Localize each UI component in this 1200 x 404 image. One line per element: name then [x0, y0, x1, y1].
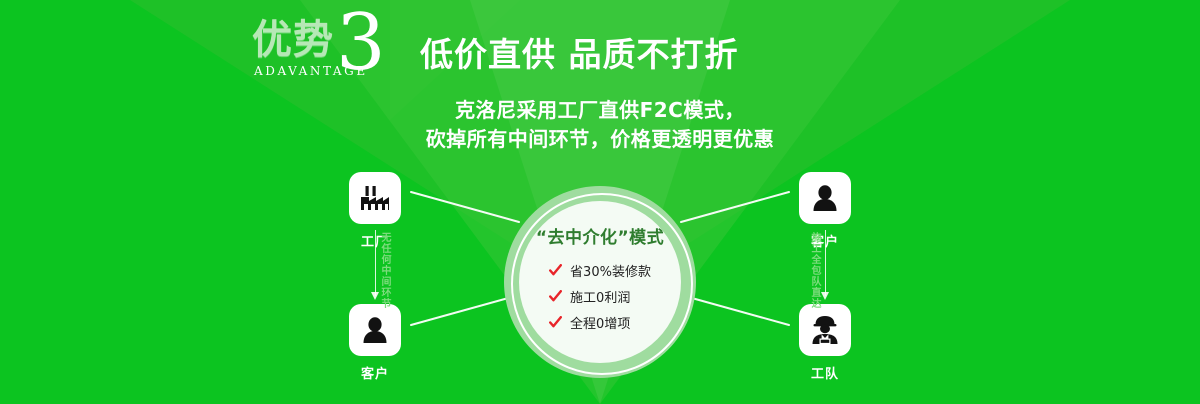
- subheadline: 克洛尼采用工厂直供F2C模式， 砍掉所有中间环节，价格更透明更优惠: [0, 96, 1200, 154]
- hub-benefit-list: 省30%装修款 施工0利润 全程0增项: [549, 261, 651, 339]
- hub-inner-circle: “去中介化”模式 省30%装修款 施工0利润 全程0增项: [519, 201, 681, 363]
- person-icon: [361, 316, 389, 344]
- node-team-box: [799, 304, 851, 356]
- check-icon: [549, 290, 562, 303]
- advantage-number: 3: [336, 4, 386, 82]
- list-item: 省30%装修款: [549, 261, 651, 280]
- check-icon: [549, 264, 562, 277]
- hub-benefit-label: 全程0增项: [570, 313, 630, 332]
- person-icon: [811, 184, 839, 212]
- advantage-badge: 优势 ADAVANTAGE 3: [248, 14, 376, 80]
- right-arrow-label: 施工全包队直达: [807, 232, 822, 309]
- hub-circle: “去中介化”模式 省30%装修款 施工0利润 全程0增项: [504, 186, 696, 378]
- hub-title: “去中介化”模式: [536, 223, 664, 248]
- node-team-label: 工队: [787, 363, 863, 382]
- left-arrow-stem: [375, 230, 376, 296]
- page-title: 低价直供 品质不打折: [420, 28, 739, 76]
- node-factory-box: [349, 172, 401, 224]
- connector-customerL-to-hub: [411, 295, 519, 325]
- factory-icon: [360, 185, 390, 211]
- connector-team-to-hub: [681, 295, 789, 325]
- left-arrow-label: 无任何中间环节: [377, 232, 392, 309]
- check-icon: [549, 316, 562, 329]
- arrow-down-icon: [821, 292, 829, 300]
- worker-icon: [810, 315, 840, 345]
- advantage-cn-label: 优势: [252, 20, 334, 60]
- node-customer-left-box: [349, 304, 401, 356]
- node-customer-right-box: [799, 172, 851, 224]
- banner-header: 优势 ADAVANTAGE 3 低价直供 品质不打折: [248, 14, 739, 80]
- connector-customerR-to-hub: [681, 192, 789, 222]
- list-item: 全程0增项: [549, 313, 651, 332]
- node-team[interactable]: 工队: [787, 304, 863, 382]
- node-customer-left[interactable]: 客户: [337, 304, 413, 382]
- connector-factory-to-hub: [411, 192, 519, 222]
- right-arrow-stem: [825, 230, 826, 296]
- node-customer-left-label: 客户: [337, 363, 413, 382]
- subheadline-line-2: 砍掉所有中间环节，价格更透明更优惠: [0, 125, 1200, 154]
- list-item: 施工0利润: [549, 287, 651, 306]
- hub-benefit-label: 省30%装修款: [570, 261, 651, 280]
- subheadline-line-1: 克洛尼采用工厂直供F2C模式，: [0, 96, 1200, 125]
- hub-benefit-label: 施工0利润: [570, 287, 630, 306]
